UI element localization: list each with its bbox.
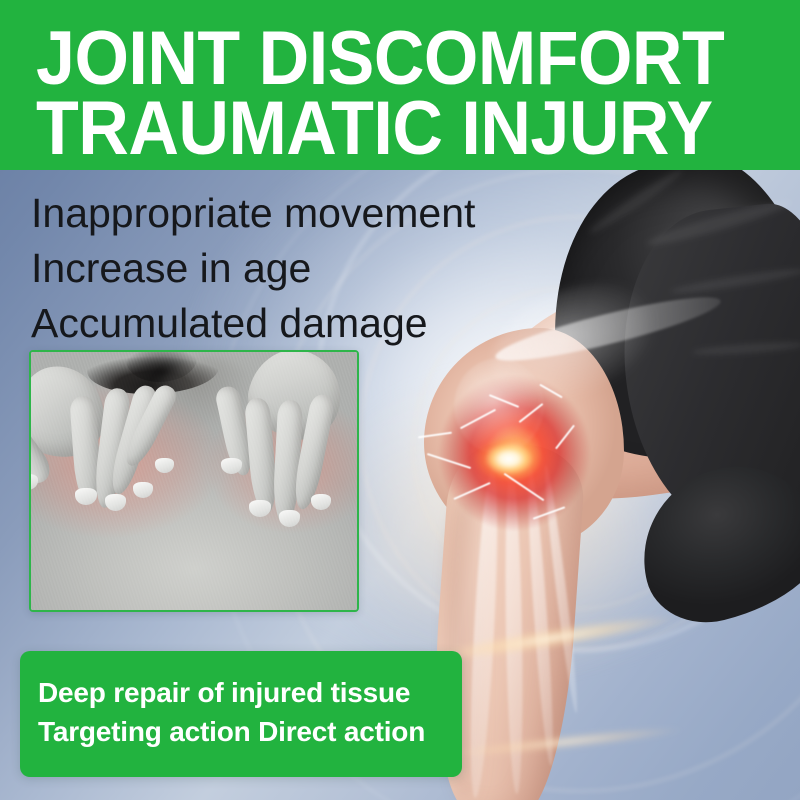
poster-root: JOINT DISCOMFORT TRAUMATIC INJURY Inappr… — [0, 0, 800, 800]
subtitle-line-1: Inappropriate movement — [31, 186, 551, 241]
benefit-callout-box: Deep repair of injured tissue Targeting … — [20, 651, 462, 777]
photo-grain — [31, 352, 357, 610]
callout-line-2: Targeting action Direct action — [38, 712, 448, 751]
subtitle-block: Inappropriate movement Increase in age A… — [31, 186, 551, 351]
callout-line-1: Deep repair of injured tissue — [38, 673, 448, 712]
headline-line-2: TRAUMATIC INJURY — [36, 90, 794, 166]
subtitle-line-3: Accumulated damage — [31, 296, 551, 351]
header-banner: JOINT DISCOMFORT TRAUMATIC INJURY — [0, 0, 800, 170]
inset-photo-back-massage — [29, 350, 359, 612]
benefit-callout-text: Deep repair of injured tissue Targeting … — [38, 673, 448, 751]
subtitle-line-2: Increase in age — [31, 241, 551, 296]
